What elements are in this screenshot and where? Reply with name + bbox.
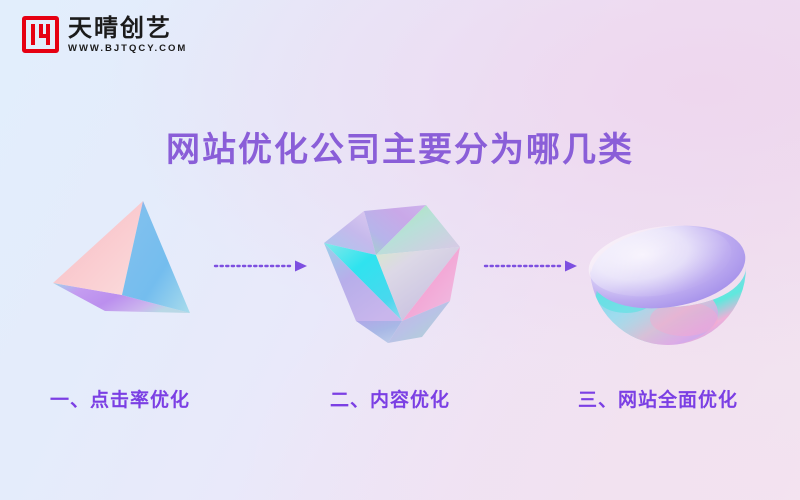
logo-company-name: 天晴创艺 [68,16,187,41]
tetrahedron-3d-shape [45,195,225,355]
step-1-shape-container [45,195,225,355]
hemisphere-3d-shape [580,195,760,355]
step-2-caption: 二、内容优化 [330,385,450,412]
logo-website-url: WWW.BJTQCY.COM [68,44,187,54]
step-1-caption: 一、点击率优化 [50,385,190,412]
logo-text-block: 天晴创艺 WWW.BJTQCY.COM [68,16,187,54]
page-title: 网站优化公司主要分为哪几类 [0,122,800,171]
slide-canvas: 天晴创艺 WWW.BJTQCY.COM 网站优化公司主要分为哪几类 [0,0,800,500]
logo-stroke-a [31,24,35,45]
step-captions: 一、点击率优化 二、内容优化 三、网站全面优化 [0,385,800,417]
logo-stroke-d [46,24,50,45]
brand-logo: 天晴创艺 WWW.BJTQCY.COM [22,16,187,54]
tianqing-chuangyi-logo-mark [22,16,59,53]
icosahedron-3d-shape [310,195,490,355]
dotted-arrow-right-1 [213,259,309,273]
dotted-arrow-right-2 [483,259,579,273]
arrow-head [565,261,577,272]
arrow-head [295,261,307,272]
shapes-stage [0,195,800,355]
step-3-caption: 三、网站全面优化 [578,385,738,412]
step-2-shape-container [310,195,490,355]
step-3-shape-container [580,195,760,355]
